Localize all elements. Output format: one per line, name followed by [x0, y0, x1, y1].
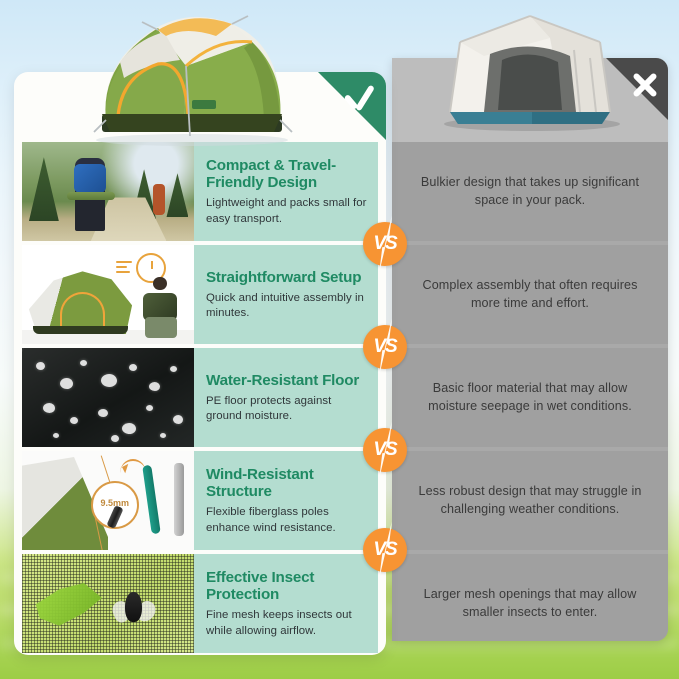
vs-label: VS [373, 336, 396, 358]
tent-setup-photo [22, 245, 194, 344]
feature-title: Compact & Travel-Friendly Design [206, 157, 368, 191]
feature-desc: PE floor protects against ground moistur… [206, 394, 368, 425]
feature-desc: Quick and intuitive assembly in minutes. [206, 291, 368, 322]
mesh-insects-photo [22, 554, 194, 653]
competitor-text: Basic floor material that may allow mois… [410, 380, 650, 416]
competitor-text: Larger mesh openings that may allow smal… [410, 586, 650, 622]
feature-desc: Lightweight and packs small for easy tra… [206, 196, 368, 227]
product-tent-image [66, 2, 316, 148]
competitor-text: Bulkier design that takes up significant… [410, 174, 650, 210]
vs-badge: VS [363, 325, 407, 369]
feature-desc: Fine mesh keeps insects out while allowi… [206, 608, 368, 639]
competitor-rows: Bulkier design that takes up significant… [392, 142, 668, 641]
fly-icon [115, 588, 153, 628]
pole-diameter-callout: 9.5mm [91, 481, 139, 529]
competitor-panel: Bulkier design that takes up significant… [392, 58, 668, 641]
feature-title: Effective Insect Protection [206, 569, 368, 603]
feature-row: 9.5mm Wind-Resistant Structure Flexible … [22, 451, 378, 550]
competitor-text: Complex assembly that often requires mor… [410, 277, 650, 313]
vs-badge: VS [363, 528, 407, 572]
feature-desc: Flexible fiberglass poles enhance wind r… [206, 505, 368, 536]
feature-title: Straightforward Setup [206, 269, 368, 286]
competitor-row: Complex assembly that often requires mor… [392, 245, 668, 344]
feature-title: Wind-Resistant Structure [206, 466, 368, 500]
feature-row: Effective Insect Protection Fine mesh ke… [22, 554, 378, 653]
feature-row: Straightforward Setup Quick and intuitiv… [22, 245, 378, 344]
mantis-icon [36, 580, 105, 633]
vs-badge: VS [363, 222, 407, 266]
hiker-trail-photo [22, 142, 194, 241]
infographic-canvas: Bulkier design that takes up significant… [0, 0, 679, 679]
competitor-row: Less robust design that may struggle in … [392, 451, 668, 550]
competitor-tent-image [424, 8, 636, 132]
vs-label: VS [373, 233, 396, 255]
feature-title: Water-Resistant Floor [206, 372, 368, 389]
fiberglass-pole-diagram: 9.5mm [22, 451, 194, 550]
product-rows: Compact & Travel-Friendly Design Lightwe… [14, 142, 386, 647]
competitor-row: Larger mesh openings that may allow smal… [392, 554, 668, 641]
vs-label: VS [373, 439, 396, 461]
vs-label: VS [373, 539, 396, 561]
competitor-text: Less robust design that may struggle in … [410, 483, 650, 519]
product-panel: Compact & Travel-Friendly Design Lightwe… [14, 72, 386, 655]
competitor-row: Bulkier design that takes up significant… [392, 142, 668, 241]
feature-row: Compact & Travel-Friendly Design Lightwe… [22, 142, 378, 241]
competitor-row: Basic floor material that may allow mois… [392, 348, 668, 447]
check-icon [343, 85, 377, 111]
water-droplets-photo [22, 348, 194, 447]
vs-badge: VS [363, 428, 407, 472]
feature-row: Water-Resistant Floor PE floor protects … [22, 348, 378, 447]
